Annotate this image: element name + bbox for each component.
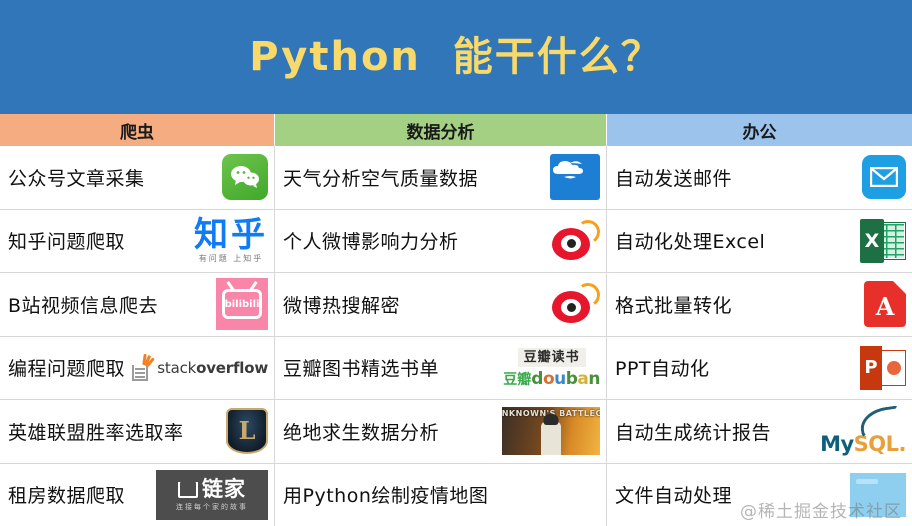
zhihu-wordmark: 知乎 (194, 218, 268, 252)
row-label: 自动化处理Excel (615, 227, 765, 254)
table-row[interactable]: 自动生成统计报告 MySQL. (607, 400, 912, 464)
table-row[interactable]: 豆瓣图书精选书单 豆瓣读书 豆瓣 douban (275, 337, 607, 401)
row-label: 用Python绘制疫情地图 (283, 481, 488, 508)
slide-canvas: Python 能干什么？ 爬虫 公众号文章采集 (0, 0, 912, 526)
weibo-logo (552, 220, 600, 262)
stackoverflow-wordmark-bold: overflow (196, 359, 268, 377)
stackoverflow-bar (135, 372, 145, 374)
column-crawler: 爬虫 公众号文章采集 (0, 114, 275, 526)
weibo-logo (552, 283, 600, 325)
bilibili-icon: bilibili (216, 273, 268, 336)
envelope-glyph (870, 167, 898, 187)
table-row[interactable]: 公众号文章采集 (0, 146, 275, 210)
bilibili-wordmark: bilibili (225, 299, 260, 310)
column-analysis: 数据分析 天气分析空气质量数据 (275, 114, 607, 526)
page-title: Python 能干什么？ (249, 37, 663, 77)
wechat-glyph (230, 165, 260, 189)
row-label: 自动发送邮件 (615, 164, 732, 191)
weibo-pupil (567, 239, 576, 248)
powerpoint-slide (881, 350, 906, 386)
mysql-wordmark: MySQL. (820, 434, 906, 455)
row-label: 租房数据爬取 (8, 481, 125, 508)
zhihu-tagline: 有问题 上知乎 (199, 255, 264, 263)
row-label: 自动生成统计报告 (615, 418, 771, 445)
table-row[interactable]: 个人微博影响力分析 (275, 210, 607, 274)
column-header-analysis: 数据分析 (275, 114, 607, 146)
stackoverflow-bar (135, 376, 145, 378)
stackoverflow-mark (132, 355, 154, 381)
row-label: 天气分析空气质量数据 (283, 164, 478, 191)
mysql-logo: MySQL. (820, 408, 906, 455)
title-banner: Python 能干什么？ (0, 0, 912, 114)
content-table: 爬虫 公众号文章采集 (0, 114, 912, 526)
lol-letter: L (239, 419, 256, 443)
row-label: B站视频信息爬去 (8, 291, 158, 318)
column-crawler-cells: 公众号文章采集 (0, 146, 275, 526)
cloud-glyph (550, 154, 590, 184)
powerpoint-letter: P (860, 346, 882, 390)
pubg-character (541, 421, 561, 455)
weibo-pupil (567, 303, 576, 312)
stackoverflow-bar (135, 368, 145, 370)
douban-wordmark-row: 豆瓣 douban (503, 371, 600, 388)
zhihu-icon: 知乎 有问题 上知乎 (194, 210, 268, 273)
column-header-crawler: 爬虫 (0, 114, 275, 146)
powerpoint-icon: P (860, 337, 906, 400)
table-row[interactable]: 英雄联盟胜率选取率 L (0, 400, 275, 464)
table-row[interactable]: 租房数据爬取 链家 连接每个家的故事 (0, 464, 275, 526)
douban-wordmark-cn: 豆瓣 (503, 373, 531, 387)
pdf-badge: A (864, 281, 906, 327)
row-label: PPT自动化 (615, 354, 710, 381)
douban-logo: 豆瓣读书 豆瓣 douban (503, 348, 600, 388)
row-label: 微博热搜解密 (283, 291, 400, 318)
table-row[interactable]: 微博热搜解密 (275, 273, 607, 337)
column-office: 办公 自动发送邮件 自动化处理Excel (607, 114, 912, 526)
table-row[interactable]: 知乎问题爬取 知乎 有问题 上知乎 (0, 210, 275, 274)
weather-badge (550, 154, 600, 200)
weather-icon (550, 146, 600, 209)
douban-icon: 豆瓣读书 豆瓣 douban (503, 337, 600, 400)
table-row[interactable]: B站视频信息爬去 bilibili (0, 273, 275, 337)
pubg-icon: PLAYERUNKNOWN'S BATTLEGROUNDS (502, 400, 600, 463)
table-row[interactable]: 自动发送邮件 (607, 146, 912, 210)
stackoverflow-wordmark-light: stack (157, 359, 196, 377)
douban-wordmark-en: douban (531, 371, 600, 388)
pubg-banner: PLAYERUNKNOWN'S BATTLEGROUNDS (502, 407, 600, 455)
douban-books-wordmark: 豆瓣读书 (518, 348, 586, 367)
row-label: 绝地求生数据分析 (283, 418, 439, 445)
excel-icon: X (860, 210, 906, 273)
row-label: 公众号文章采集 (8, 164, 145, 191)
stackoverflow-logo: stackoverflow (132, 355, 268, 381)
row-label: 豆瓣图书精选书单 (283, 354, 439, 381)
row-label: 知乎问题爬取 (8, 227, 125, 254)
column-header-office: 办公 (607, 114, 912, 146)
mail-icon (862, 146, 906, 209)
house-icon (178, 480, 198, 498)
stackoverflow-icon: stackoverflow (132, 337, 268, 400)
mysql-icon: MySQL. (820, 400, 906, 463)
lol-crest: L (226, 408, 268, 454)
excel-logo: X (860, 219, 906, 263)
folder-tab (856, 479, 878, 484)
column-office-cells: 自动发送邮件 自动化处理Excel (607, 146, 912, 526)
column-analysis-cells: 天气分析空气质量数据 个人微博影响力分析 (275, 146, 607, 526)
wechat-badge (222, 154, 268, 200)
row-label: 个人微博影响力分析 (283, 227, 459, 254)
pdf-letter: A (876, 292, 895, 321)
league-of-legends-icon: L (226, 400, 268, 463)
wechat-icon (222, 146, 268, 209)
table-row[interactable]: 编程问题爬取 stacko (0, 337, 275, 401)
powerpoint-chart-dot (887, 361, 901, 375)
table-row[interactable]: 天气分析空气质量数据 (275, 146, 607, 210)
row-label: 英雄联盟胜率选取率 (8, 418, 184, 445)
row-label: 格式批量转化 (615, 291, 732, 318)
folder-shape (850, 473, 906, 517)
table-row[interactable]: 格式批量转化 A (607, 273, 912, 337)
mysql-wordmark-my: My (820, 432, 854, 456)
row-label: 文件自动处理 (615, 481, 732, 508)
table-row[interactable]: PPT自动化 P (607, 337, 912, 401)
powerpoint-logo: P (860, 346, 906, 390)
weibo-icon (552, 210, 600, 273)
pdf-icon: A (864, 273, 906, 336)
lianjia-wordmark: 链家 (202, 479, 246, 500)
table-row[interactable]: 绝地求生数据分析 PLAYERUNKNOWN'S BATTLEGROUNDS (275, 400, 607, 464)
lianjia-logo: 链家 连接每个家的故事 (156, 470, 268, 520)
table-row[interactable]: 文件自动处理 (607, 464, 912, 526)
stackoverflow-wordmark: stackoverflow (157, 359, 268, 377)
lianjia-icon: 链家 连接每个家的故事 (156, 464, 268, 526)
zhihu-logo: 知乎 有问题 上知乎 (194, 218, 268, 263)
bilibili-tv-shape: bilibili (222, 289, 262, 319)
excel-letter: X (860, 219, 884, 263)
row-label: 编程问题爬取 (8, 354, 125, 381)
table-row[interactable]: 用Python绘制疫情地图 (275, 464, 607, 526)
folder-icon (850, 464, 906, 526)
lianjia-tagline: 连接每个家的故事 (176, 504, 248, 511)
mail-badge (862, 155, 906, 199)
weibo-icon (552, 273, 600, 336)
bilibili-badge: bilibili (216, 278, 268, 330)
table-row[interactable]: 自动化处理Excel X (607, 210, 912, 274)
lianjia-logo-row: 链家 (178, 479, 246, 500)
